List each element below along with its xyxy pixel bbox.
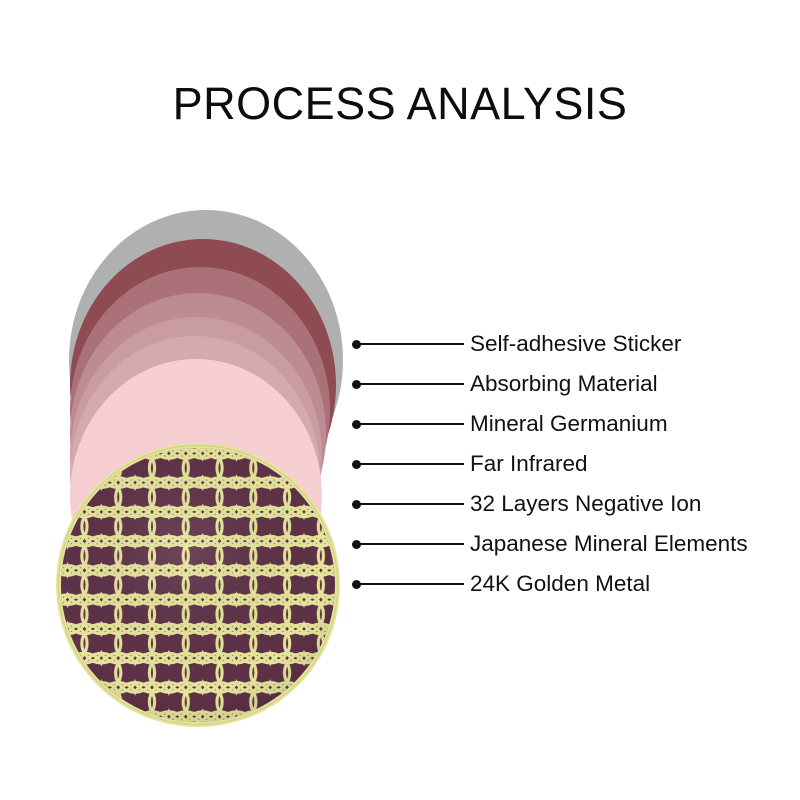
leader-stroke (356, 583, 464, 585)
leader-stroke (356, 343, 464, 345)
legend-item-absorbing-material[interactable]: Absorbing Material (352, 368, 658, 400)
leader-line (352, 577, 464, 591)
front-disc (56, 443, 340, 727)
legend-item-far-infrared[interactable]: Far Infrared (352, 448, 588, 480)
legend-item-negative-ion[interactable]: 32 Layers Negative Ion (352, 488, 701, 520)
legend-item-golden-metal[interactable]: 24K Golden Metal (352, 568, 650, 600)
legend-label: Absorbing Material (470, 373, 658, 396)
legend-label: 24K Golden Metal (470, 573, 650, 596)
leader-stroke (356, 423, 464, 425)
legend-label: Japanese Mineral Elements (470, 533, 748, 556)
leader-line (352, 337, 464, 351)
leader-line (352, 537, 464, 551)
legend-label: 32 Layers Negative Ion (470, 493, 701, 516)
legend-label: Far Infrared (470, 453, 588, 476)
leader-stroke (356, 543, 464, 545)
leader-line (352, 417, 464, 431)
legend-label: Self-adhesive Sticker (470, 333, 681, 356)
legend-item-japanese-mineral-elements[interactable]: Japanese Mineral Elements (352, 528, 748, 560)
legend-item-mineral-germanium[interactable]: Mineral Germanium (352, 408, 668, 440)
leader-stroke (356, 503, 464, 505)
leader-line (352, 377, 464, 391)
callout-legend: Self-adhesive Sticker Absorbing Material… (352, 328, 792, 608)
leader-stroke (356, 383, 464, 385)
legend-label: Mineral Germanium (470, 413, 668, 436)
infographic-canvas: PROCESS ANALYSIS (0, 0, 800, 800)
legend-item-self-adhesive-sticker[interactable]: Self-adhesive Sticker (352, 328, 681, 360)
leader-line (352, 497, 464, 511)
leader-line (352, 457, 464, 471)
leader-stroke (356, 463, 464, 465)
